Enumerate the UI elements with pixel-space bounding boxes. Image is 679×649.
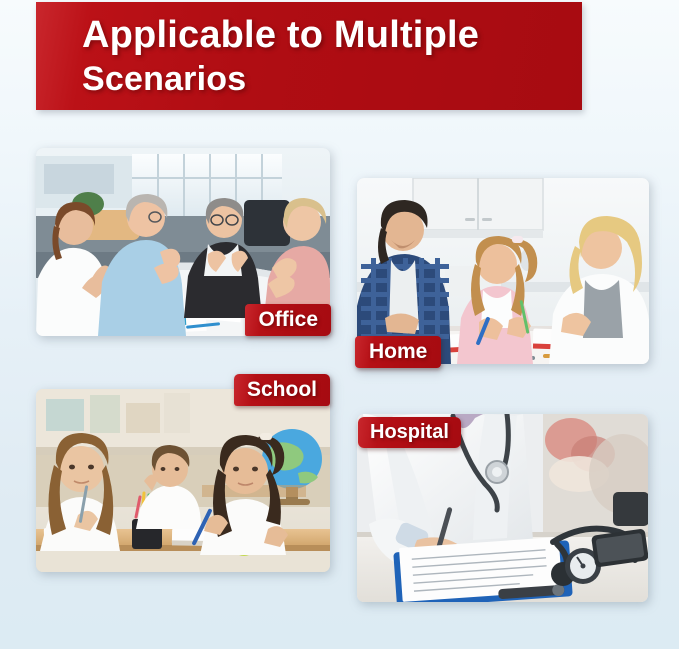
scenario-card-school[interactable]: School [36,389,330,572]
header-banner: Applicable to Multiple Scenarios [36,2,582,110]
scenario-card-office[interactable]: Office [36,148,330,336]
banner-title-line-2: Scenarios [82,58,582,100]
tag-school[interactable]: School [234,374,330,406]
tag-hospital[interactable]: Hospital [358,417,461,448]
tag-home[interactable]: Home [355,336,441,368]
banner-title-line-1: Applicable to Multiple [82,12,582,58]
school-photo [36,389,330,572]
tag-office[interactable]: Office [245,304,331,336]
scenario-card-hospital[interactable]: Hospital [357,414,648,602]
scenario-card-home[interactable]: Home [357,178,649,364]
